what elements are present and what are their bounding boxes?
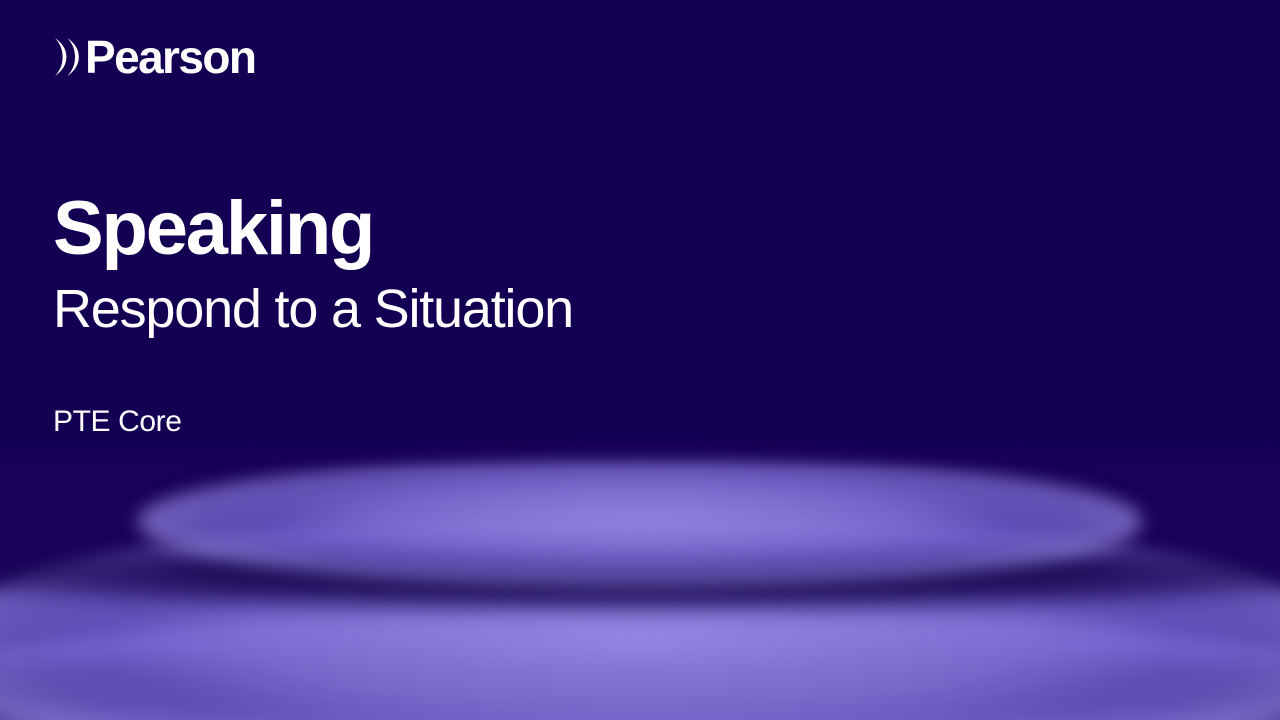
page-title: Speaking bbox=[53, 190, 373, 268]
pearson-interrobang-icon bbox=[53, 36, 83, 78]
pearson-wordmark: Pearson bbox=[85, 34, 255, 80]
pearson-logo: Pearson bbox=[53, 33, 255, 81]
page-subtitle: Respond to a Situation bbox=[53, 281, 573, 338]
slide-content: Pearson Speaking Respond to a Situation … bbox=[0, 0, 1280, 720]
title-slide: Pearson Speaking Respond to a Situation … bbox=[0, 0, 1280, 720]
program-label: PTE Core bbox=[53, 405, 182, 438]
